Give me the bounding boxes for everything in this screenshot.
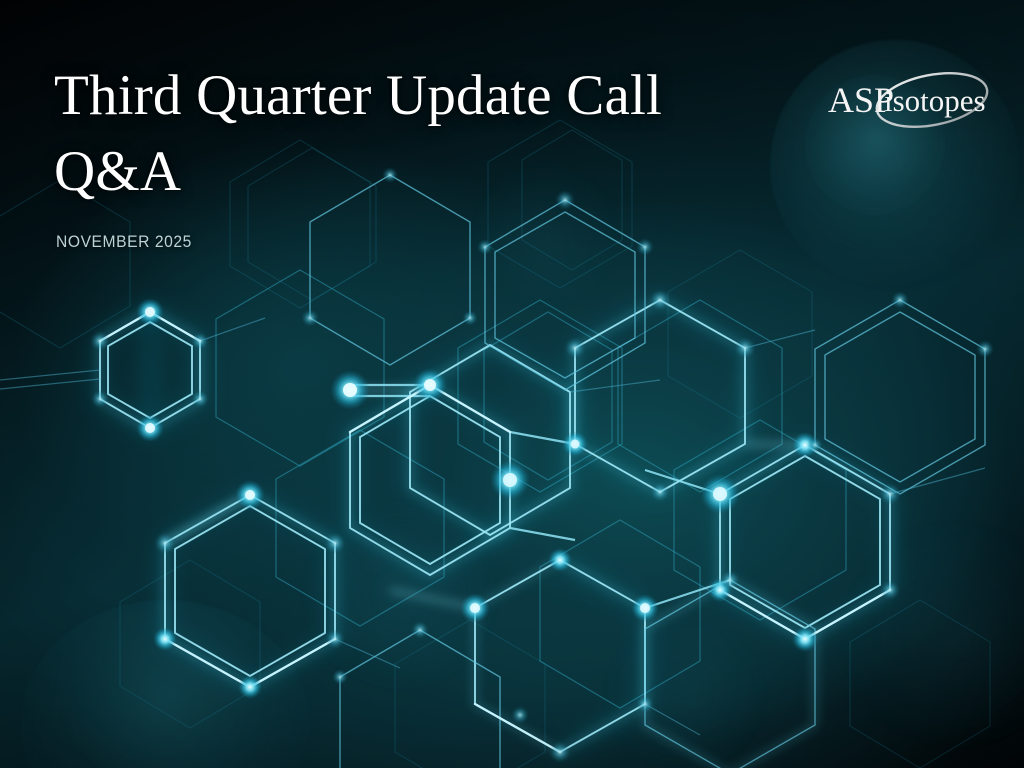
logo-wordmark-isotopes: isotopes — [884, 83, 986, 118]
page-title: Third Quarter Update Call Q&A — [54, 58, 754, 210]
slide-date: NOVEMBER 2025 — [56, 232, 698, 252]
presentation-slide: Third Quarter Update Call Q&A NOVEMBER 2… — [0, 0, 1024, 768]
title-block: Third Quarter Update Call Q&A NOVEMBER 2… — [54, 58, 754, 252]
company-logo[interactable]: ASP isotopes ASP Isotopes — [826, 68, 996, 132]
